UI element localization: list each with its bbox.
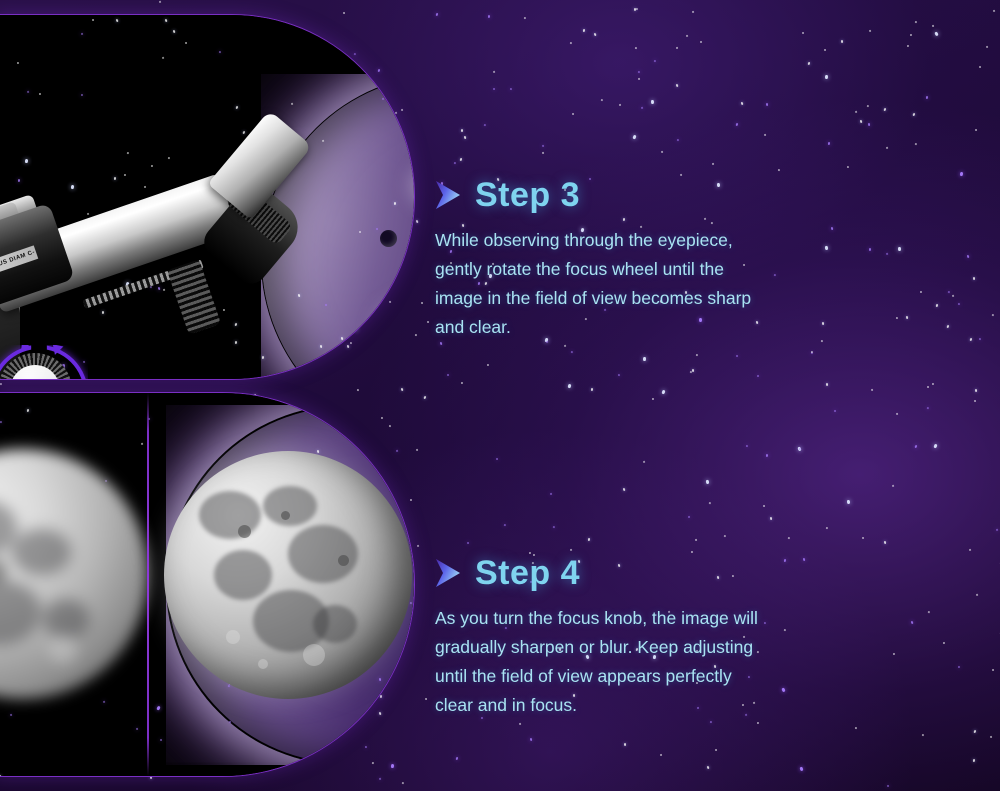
telescope-illustration: MAIN FOCUS DIAM C-Grade — [0, 105, 404, 380]
step-4-body: As you turn the focus knob, the image wi… — [435, 604, 765, 720]
step-4-block: Step 4 As you turn the focus knob, the i… — [435, 556, 765, 720]
panel-telescope: MAIN FOCUS DIAM C-Grade — [0, 14, 415, 380]
step-3-heading: Step 3 — [435, 178, 765, 212]
step-3-body: While observing through the eyepiece, ge… — [435, 226, 765, 342]
panel-moons — [0, 392, 415, 777]
step-3-title: Step 3 — [475, 178, 580, 212]
step-4-heading: Step 4 — [435, 556, 765, 590]
moon-blurred — [0, 449, 148, 699]
arrow-right-icon — [435, 558, 461, 588]
promo-banner: MAIN FOCUS DIAM C-Grade — [0, 0, 1000, 791]
step-4-title: Step 4 — [475, 556, 580, 590]
arrow-right-icon — [435, 180, 461, 210]
moon-sharp — [164, 451, 412, 699]
panel-divider — [147, 393, 149, 776]
focus-ring-gear — [167, 259, 221, 334]
step-3-block: Step 3 While observing through the eyepi… — [435, 178, 765, 342]
